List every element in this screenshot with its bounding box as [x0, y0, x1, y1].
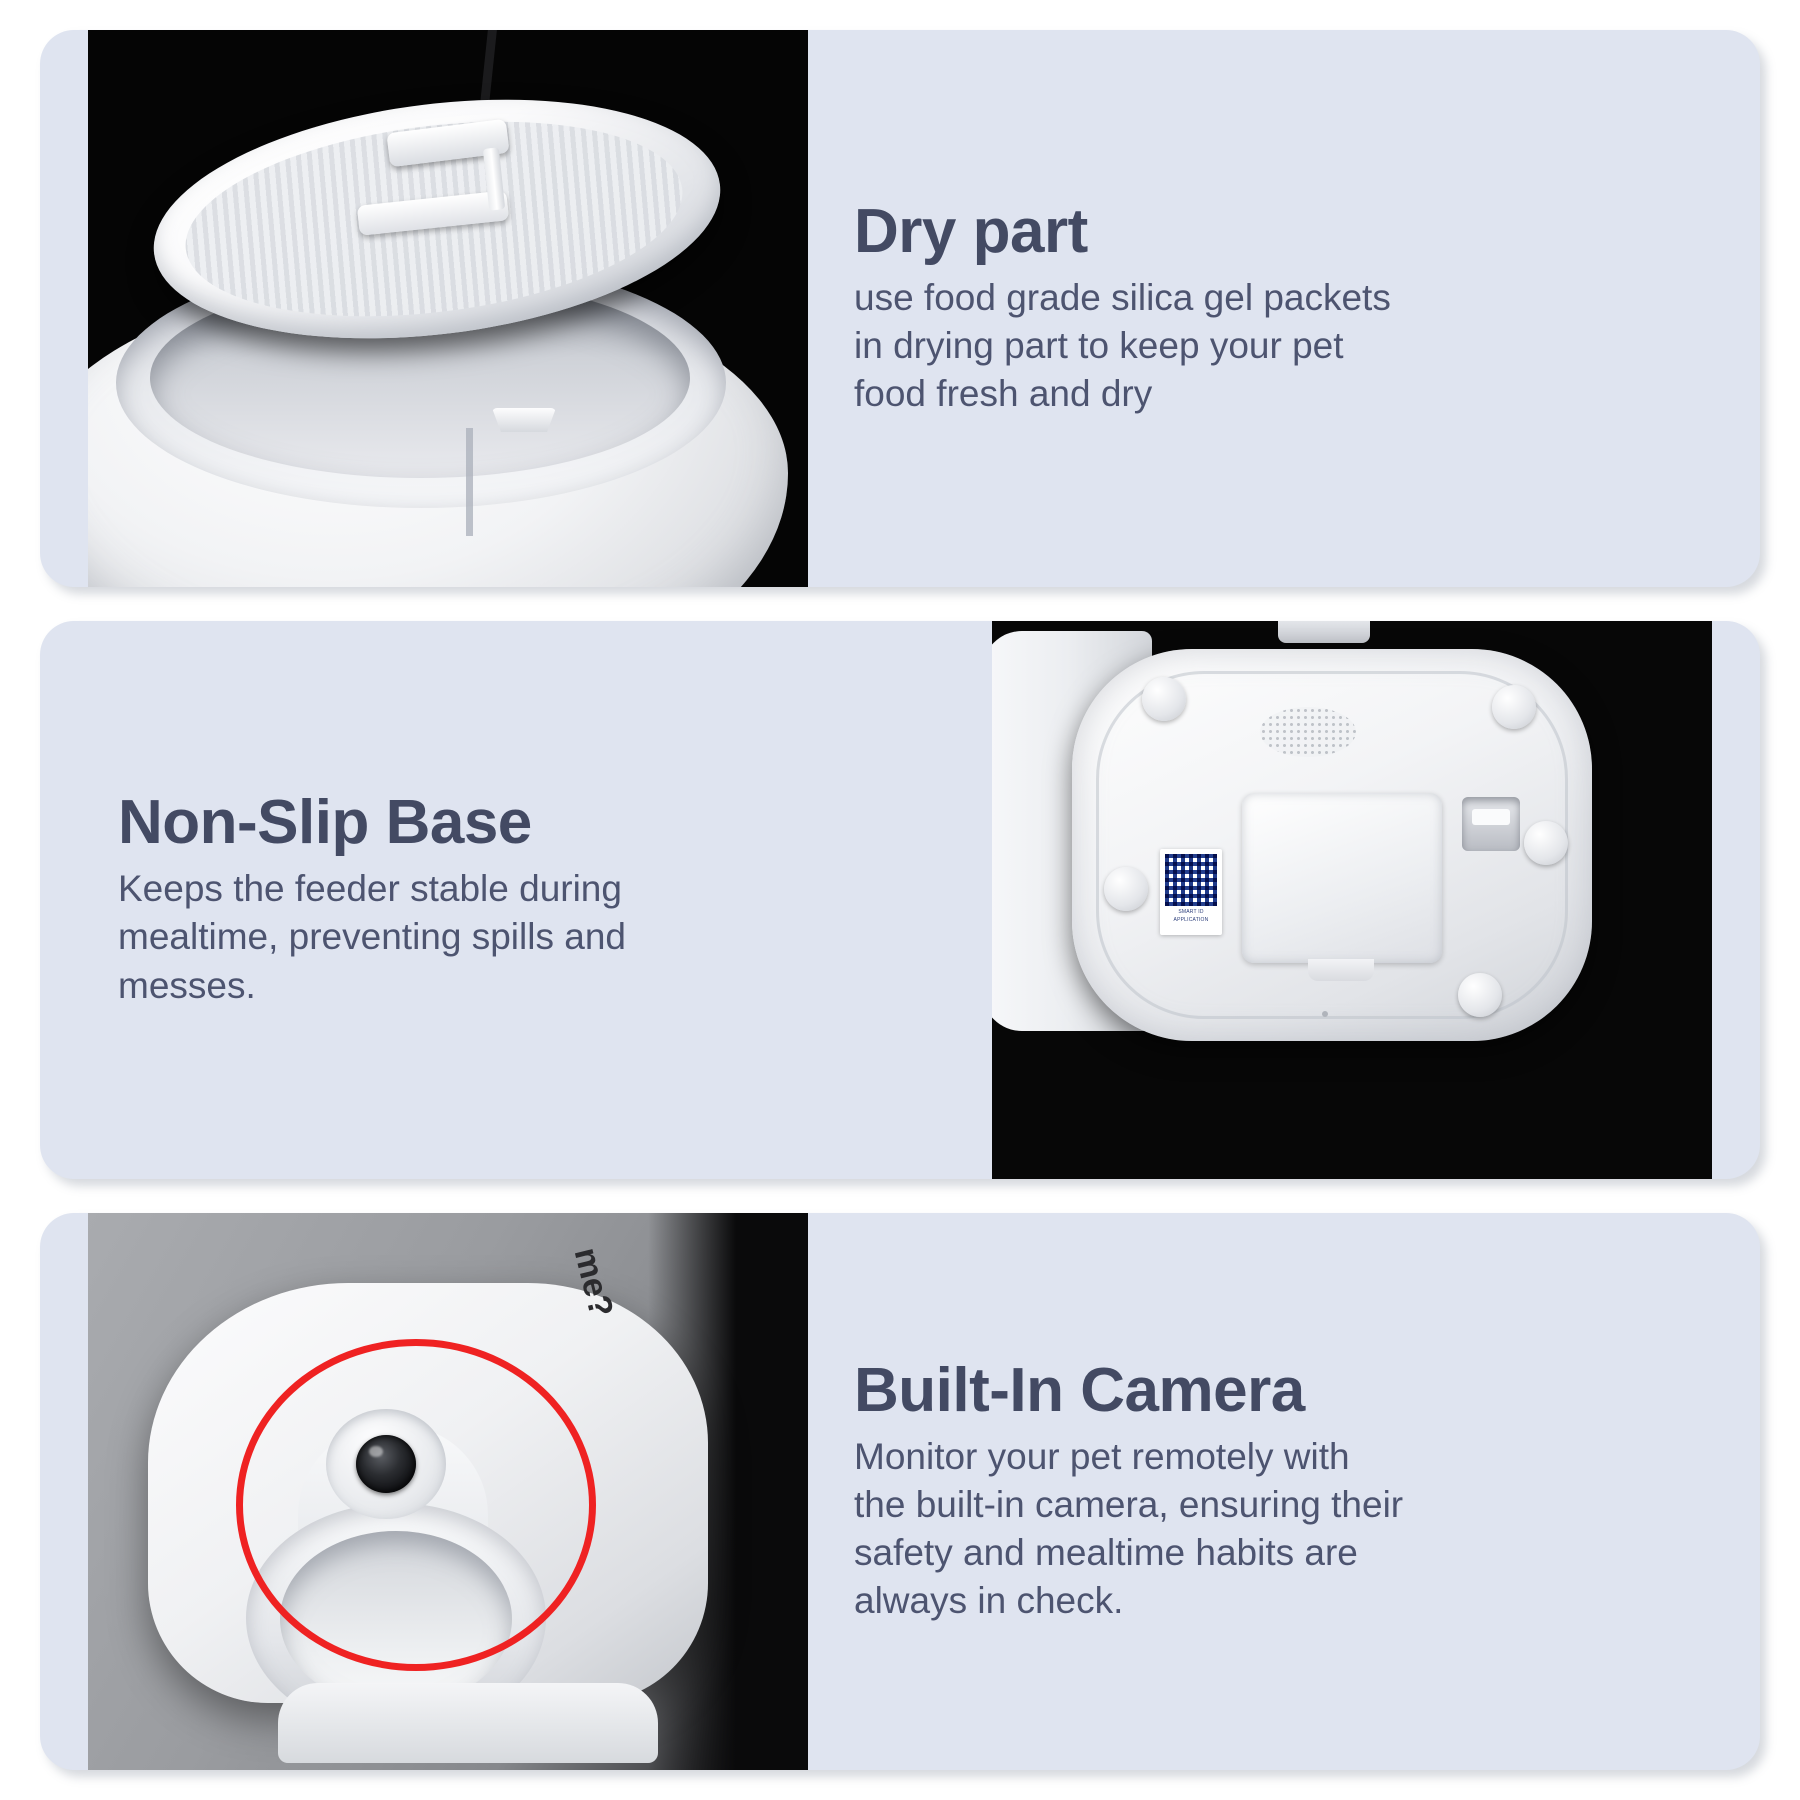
lid-latch	[492, 408, 556, 432]
feature-text-built-in-camera: Built-In Camera Monitor your pet remotel…	[808, 1358, 1760, 1625]
feature-text-non-slip-base: Non-Slip Base Keeps the feeder stable du…	[40, 790, 992, 1009]
panel-body-text: use food grade silica gel packets in dry…	[854, 274, 1391, 418]
rubber-foot	[1492, 685, 1536, 729]
panel-body-text: Keeps the feeder stable during mealtime,…	[118, 865, 626, 1009]
qr-code-label: SMART ID APPLICATION	[1160, 849, 1222, 935]
rubber-foot	[1104, 867, 1148, 911]
battery-hatch	[1242, 793, 1442, 963]
feature-panel-dry-part: Dry part use food grade silica gel packe…	[40, 30, 1760, 587]
body-seam	[466, 428, 473, 536]
panel-heading: Built-In Camera	[854, 1358, 1305, 1425]
rubber-foot	[1524, 821, 1568, 865]
product-photo-non-slip-base: SMART ID APPLICATION	[992, 621, 1712, 1178]
highlight-circle	[236, 1339, 596, 1671]
infographic-page: Dry part use food grade silica gel packe…	[0, 0, 1800, 1800]
qr-label-text: SMART ID APPLICATION	[1164, 909, 1218, 924]
power-port	[1462, 797, 1520, 851]
panel-body-text: Monitor your pet remotely with the built…	[854, 1433, 1403, 1625]
rubber-foot	[1142, 677, 1186, 721]
feature-text-dry-part: Dry part use food grade silica gel packe…	[808, 199, 1760, 418]
top-clip	[1278, 621, 1370, 643]
panel-heading: Dry part	[854, 199, 1088, 266]
rubber-foot	[1458, 973, 1502, 1017]
qr-code-icon	[1165, 854, 1217, 906]
feature-panel-non-slip-base: SMART ID APPLICATION Non-Slip Base Keeps…	[40, 621, 1760, 1178]
panel-heading: Non-Slip Base	[118, 790, 532, 857]
battery-hatch-tab[interactable]	[1308, 959, 1374, 981]
speaker-grille	[1260, 707, 1356, 757]
feeder-foot-plate	[278, 1683, 658, 1763]
feature-panel-built-in-camera: me? Built-In Camera Monitor your pet rem…	[40, 1213, 1760, 1770]
product-photo-built-in-camera: me?	[88, 1213, 808, 1770]
product-photo-dry-part	[88, 30, 808, 587]
